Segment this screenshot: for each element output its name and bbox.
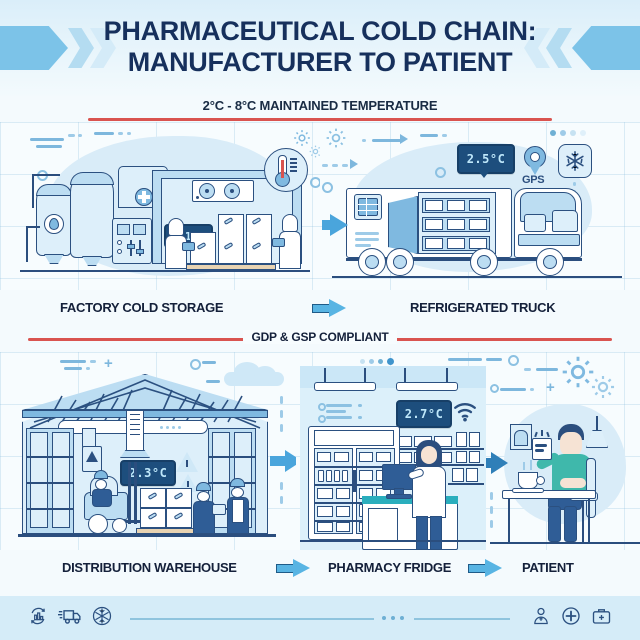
- stage-label-refrigerated-truck: REFRIGERATED TRUCK: [410, 300, 555, 315]
- infographic-root: PHARMACEUTICAL COLD CHAIN: MANUFACTURER …: [0, 0, 640, 640]
- gear-icon: [308, 144, 320, 159]
- ceiling-light: [314, 382, 376, 391]
- snowflake-icon: [92, 606, 112, 626]
- illustration-band-bottom: +: [0, 352, 640, 550]
- analytics-cycle-icon: [28, 606, 48, 626]
- medical-cross-icon: [561, 606, 581, 626]
- helmet-icon: [94, 470, 108, 479]
- gps-label: GPS: [522, 174, 544, 186]
- footer-icons-left: [28, 606, 112, 626]
- subtitle: 2°C - 8°C MAINTAINED TEMPERATURE: [0, 98, 640, 113]
- header: PHARMACEUTICAL COLD CHAIN: MANUFACTURER …: [0, 0, 640, 96]
- illustration-band-top: 2.1°C: [0, 122, 640, 290]
- flow-arrow-3: [468, 559, 502, 578]
- wifi-icon: [452, 400, 478, 422]
- temperature-display-pharmacy: 2.7°C: [396, 400, 452, 428]
- stage-illustration-pharmacy-fridge: 2.7°C: [300, 352, 486, 550]
- flow-arrow-2: [276, 559, 310, 578]
- header-underline: [88, 118, 552, 121]
- stage-illustration-factory-cold-storage: 2.1°C: [8, 122, 320, 290]
- footer: [0, 596, 640, 640]
- gear-icon: [590, 374, 616, 400]
- compliance-text: GDP & GSP COMPLIANT: [243, 330, 396, 344]
- doctor-icon: [531, 606, 551, 626]
- coffee-cup: [518, 472, 538, 489]
- gear-icon: [324, 126, 348, 150]
- ceiling-light: [396, 382, 458, 391]
- compliance-text-wrap: GDP & GSP COMPLIANT: [0, 330, 640, 344]
- stage-illustration-refrigerated-truck: 2.5°C GPS: [322, 122, 632, 290]
- first-aid-kit-icon: [591, 606, 612, 626]
- page-title: PHARMACEUTICAL COLD CHAIN: MANUFACTURER …: [0, 16, 640, 78]
- label-row-top: FACTORY COLD STORAGE REFRIGERATED TRUCK: [0, 298, 640, 324]
- stage-illustration-distribution-warehouse: +: [8, 352, 296, 550]
- stage-label-pharmacy-fridge: PHARMACY FRIDGE: [328, 560, 451, 575]
- label-row-bottom: DISTRIBUTION WAREHOUSE PHARMACY FRIDGE P…: [0, 558, 640, 584]
- page-title-line2: MANUFACTURER TO PATIENT: [0, 47, 640, 78]
- flow-arrow-1: [312, 299, 346, 318]
- stage-label-factory-cold-storage: FACTORY COLD STORAGE: [60, 300, 223, 315]
- page-title-line1: PHARMACEUTICAL COLD CHAIN:: [0, 16, 640, 47]
- footer-icons-right: [531, 606, 612, 626]
- stage-label-distribution-warehouse: DISTRIBUTION WAREHOUSE: [62, 560, 237, 575]
- delivery-truck-icon: [58, 606, 82, 626]
- stage-label-patient: PATIENT: [522, 560, 574, 575]
- compliance-divider: GDP & GSP COMPLIANT: [0, 330, 640, 348]
- stage-illustration-patient: +: [486, 352, 640, 550]
